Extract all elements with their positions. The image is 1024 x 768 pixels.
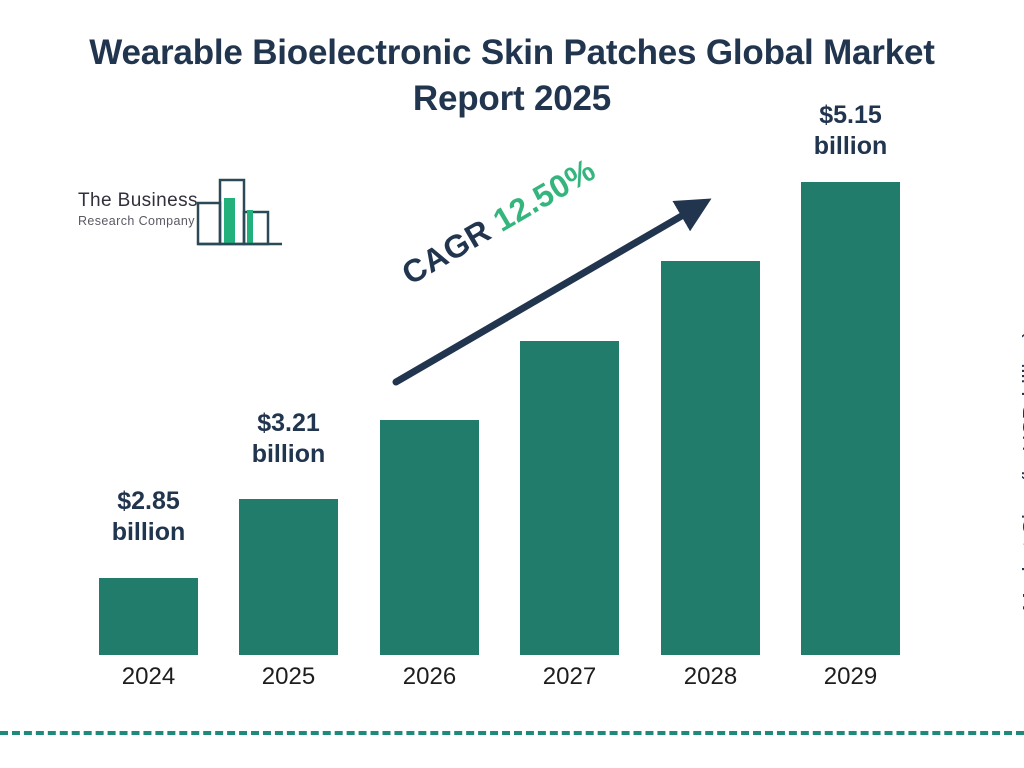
x-tick-2025: 2025 [219, 663, 358, 691]
bar-value-2024: $2.85 billion [79, 486, 218, 548]
y-axis-title: Market Size (in USD billion) [1018, 330, 1024, 611]
x-tick-2028: 2028 [641, 663, 780, 691]
bar-2029 [801, 182, 900, 655]
bar-value-2025: $3.21 billion [219, 408, 358, 470]
bar-2027 [520, 341, 619, 655]
x-tick-2029: 2029 [781, 663, 920, 691]
bar-value-2029: $5.15 billion [781, 100, 920, 162]
bottom-divider [0, 731, 1024, 735]
bar-2028 [661, 261, 760, 655]
bar-2026 [380, 420, 479, 655]
plot-area: $2.85 billion 2024 $3.21 billion 2025 20… [0, 0, 1024, 768]
chart-page: Wearable Bioelectronic Skin Patches Glob… [0, 0, 1024, 768]
bar-2024 [99, 578, 198, 655]
x-tick-2026: 2026 [360, 663, 499, 691]
bar-2025 [239, 499, 338, 655]
x-tick-2027: 2027 [500, 663, 639, 691]
x-tick-2024: 2024 [79, 663, 218, 691]
